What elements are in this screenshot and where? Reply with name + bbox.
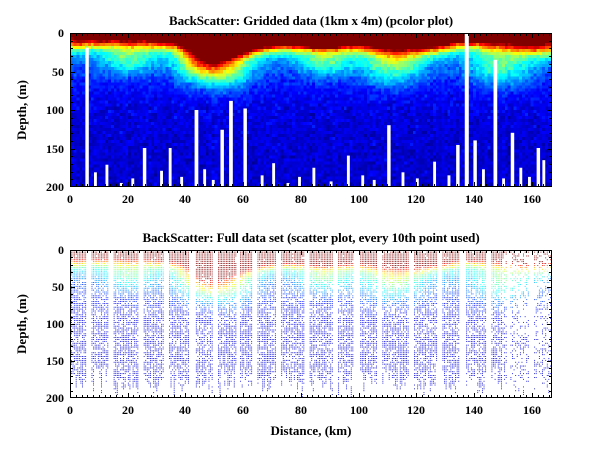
y-minor-tick [70, 79, 73, 80]
x-minor-tick [434, 184, 435, 187]
x-minor-tick [220, 184, 221, 187]
x-minor-tick [82, 33, 83, 36]
x-minor-tick [503, 250, 504, 253]
x-minor-tick [295, 184, 296, 187]
x-tick-label: 40 [179, 404, 191, 416]
y-minor-tick [70, 133, 73, 134]
x-minor-tick [353, 33, 354, 36]
x-minor-tick [260, 33, 261, 36]
x-minor-tick [445, 250, 446, 253]
x-minor-tick [376, 33, 377, 36]
x-minor-tick [382, 250, 383, 253]
x-minor-tick [480, 33, 481, 36]
x-minor-tick [364, 395, 365, 398]
x-minor-tick [105, 250, 106, 253]
y-minor-tick [549, 164, 552, 165]
y-minor-tick [549, 339, 552, 340]
x-minor-tick [514, 250, 515, 253]
x-minor-tick [151, 184, 152, 187]
y-minor-tick [70, 125, 73, 126]
x-minor-tick [87, 250, 88, 253]
x-major-tick [185, 33, 186, 38]
x-tick-label: 160 [523, 193, 541, 205]
x-minor-tick [439, 184, 440, 187]
x-tick-label: 20 [122, 193, 134, 205]
x-minor-tick [520, 184, 521, 187]
x-minor-tick [503, 395, 504, 398]
y-tick-label: 150 [32, 143, 64, 155]
x-minor-tick [445, 395, 446, 398]
y-minor-tick [549, 95, 552, 96]
x-minor-tick [336, 395, 337, 398]
x-major-tick [416, 33, 417, 38]
x-minor-tick [405, 33, 406, 36]
x-minor-tick [232, 250, 233, 253]
x-minor-tick [145, 33, 146, 36]
x-minor-tick [237, 33, 238, 36]
y-tick-label: 50 [32, 281, 64, 293]
x-major-tick [243, 250, 244, 255]
x-minor-tick [457, 250, 458, 253]
x-minor-tick [168, 395, 169, 398]
x-minor-tick [526, 33, 527, 36]
x-minor-tick [93, 250, 94, 253]
x-minor-tick [76, 184, 77, 187]
y-minor-tick [549, 383, 552, 384]
x-tick-label: 60 [237, 404, 249, 416]
x-minor-tick [203, 184, 204, 187]
y-major-tick [70, 186, 75, 187]
x-major-tick [301, 393, 302, 398]
x-minor-tick [370, 184, 371, 187]
x-major-tick [301, 250, 302, 255]
x-minor-tick [347, 184, 348, 187]
x-minor-tick [82, 184, 83, 187]
x-minor-tick [312, 184, 313, 187]
y-minor-tick [549, 156, 552, 157]
x-major-tick [532, 393, 533, 398]
y-minor-tick [70, 87, 73, 88]
x-minor-tick [543, 184, 544, 187]
x-minor-tick [399, 184, 400, 187]
y-tick-label: 200 [32, 392, 64, 404]
x-minor-tick [324, 184, 325, 187]
x-minor-tick [93, 395, 94, 398]
x-minor-tick [82, 395, 83, 398]
x-major-tick [185, 250, 186, 255]
x-minor-tick [255, 184, 256, 187]
x-minor-tick [457, 33, 458, 36]
x-minor-tick [370, 395, 371, 398]
y-minor-tick [70, 339, 73, 340]
x-minor-tick [491, 184, 492, 187]
x-major-tick [474, 393, 475, 398]
x-minor-tick [324, 395, 325, 398]
x-minor-tick [145, 250, 146, 253]
y-minor-tick [70, 257, 73, 258]
x-minor-tick [514, 395, 515, 398]
x-minor-tick [214, 184, 215, 187]
x-minor-tick [209, 33, 210, 36]
x-minor-tick [347, 250, 348, 253]
x-minor-tick [318, 395, 319, 398]
x-minor-tick [249, 33, 250, 36]
x-tick-label: 40 [179, 193, 191, 205]
x-minor-tick [341, 33, 342, 36]
x-minor-tick [226, 395, 227, 398]
x-minor-tick [116, 250, 117, 253]
y-minor-tick [70, 141, 73, 142]
x-minor-tick [289, 184, 290, 187]
x-minor-tick [197, 33, 198, 36]
y-minor-tick [549, 280, 552, 281]
x-minor-tick [497, 250, 498, 253]
x-minor-tick [468, 33, 469, 36]
x-minor-tick [428, 33, 429, 36]
x-minor-tick [382, 184, 383, 187]
y-major-tick [70, 287, 75, 288]
x-minor-tick [260, 250, 261, 253]
x-tick-label: 100 [350, 404, 368, 416]
x-minor-tick [330, 33, 331, 36]
x-minor-tick [151, 33, 152, 36]
x-minor-tick [76, 395, 77, 398]
x-minor-tick [266, 184, 267, 187]
x-major-tick [128, 33, 129, 38]
y-minor-tick [549, 172, 552, 173]
y-minor-tick [70, 172, 73, 173]
x-minor-tick [226, 33, 227, 36]
x-minor-tick [220, 250, 221, 253]
x-minor-tick [370, 250, 371, 253]
x-major-tick [532, 182, 533, 187]
x-minor-tick [162, 184, 163, 187]
x-minor-tick [197, 250, 198, 253]
x-minor-tick [457, 184, 458, 187]
y-minor-tick [70, 164, 73, 165]
x-minor-tick [509, 395, 510, 398]
x-minor-tick [139, 184, 140, 187]
x-minor-tick [162, 395, 163, 398]
y-major-tick [547, 287, 552, 288]
x-minor-tick [422, 184, 423, 187]
x-major-tick [185, 393, 186, 398]
x-minor-tick [226, 250, 227, 253]
x-major-tick [301, 33, 302, 38]
x-minor-tick [486, 33, 487, 36]
y-tick-label: 200 [32, 181, 64, 193]
x-minor-tick [180, 250, 181, 253]
x-minor-tick [341, 250, 342, 253]
x-minor-tick [422, 250, 423, 253]
x-minor-tick [255, 250, 256, 253]
y-minor-tick [70, 302, 73, 303]
x-minor-tick [214, 33, 215, 36]
y-major-tick [70, 397, 75, 398]
x-minor-tick [116, 395, 117, 398]
x-minor-tick [330, 184, 331, 187]
x-minor-tick [543, 33, 544, 36]
x-tick-label: 120 [407, 404, 425, 416]
x-minor-tick [491, 395, 492, 398]
x-minor-tick [191, 395, 192, 398]
x-minor-tick [284, 250, 285, 253]
x-major-tick [416, 250, 417, 255]
x-minor-tick [122, 33, 123, 36]
x-minor-tick [463, 184, 464, 187]
y-minor-tick [70, 156, 73, 157]
x-minor-tick [116, 184, 117, 187]
x-minor-tick [393, 184, 394, 187]
x-minor-tick [520, 33, 521, 36]
x-minor-tick [312, 250, 313, 253]
y-minor-tick [549, 179, 552, 180]
y-axis-label-gridded: Depth, (m) [15, 33, 29, 187]
x-minor-tick [220, 33, 221, 36]
x-minor-tick [399, 395, 400, 398]
x-minor-tick [122, 395, 123, 398]
x-minor-tick [266, 395, 267, 398]
x-minor-tick [133, 184, 134, 187]
y-minor-tick [549, 376, 552, 377]
x-major-tick [243, 33, 244, 38]
x-minor-tick [497, 33, 498, 36]
y-minor-tick [549, 102, 552, 103]
x-minor-tick [162, 250, 163, 253]
x-minor-tick [364, 184, 365, 187]
y-major-tick [547, 110, 552, 111]
x-tick-label: 100 [350, 193, 368, 205]
x-minor-tick [468, 395, 469, 398]
x-minor-tick [422, 395, 423, 398]
x-minor-tick [509, 33, 510, 36]
x-minor-tick [82, 250, 83, 253]
y-minor-tick [549, 354, 552, 355]
y-minor-tick [70, 294, 73, 295]
x-minor-tick [330, 395, 331, 398]
x-minor-tick [122, 250, 123, 253]
y-minor-tick [70, 383, 73, 384]
x-minor-tick [168, 250, 169, 253]
y-major-tick [70, 324, 75, 325]
scatter-points [71, 251, 551, 397]
y-major-tick [547, 186, 552, 187]
x-minor-tick [451, 184, 452, 187]
y-minor-tick [70, 179, 73, 180]
x-minor-tick [434, 395, 435, 398]
x-minor-tick [237, 250, 238, 253]
y-tick-label: 50 [32, 66, 64, 78]
x-major-tick [185, 182, 186, 187]
x-minor-tick [174, 184, 175, 187]
y-minor-tick [70, 331, 73, 332]
y-major-tick [547, 33, 552, 34]
x-minor-tick [116, 33, 117, 36]
x-minor-tick [486, 184, 487, 187]
x-minor-tick [99, 395, 100, 398]
x-minor-tick [509, 250, 510, 253]
y-minor-tick [549, 309, 552, 310]
y-minor-tick [549, 346, 552, 347]
x-minor-tick [272, 184, 273, 187]
x-minor-tick [364, 250, 365, 253]
y-minor-tick [549, 368, 552, 369]
y-major-tick [70, 33, 75, 34]
x-minor-tick [330, 250, 331, 253]
x-major-tick [359, 33, 360, 38]
x-minor-tick [341, 184, 342, 187]
x-minor-tick [278, 184, 279, 187]
y-minor-tick [549, 302, 552, 303]
x-minor-tick [336, 250, 337, 253]
x-minor-tick [434, 33, 435, 36]
y-minor-tick [549, 125, 552, 126]
x-minor-tick [382, 395, 383, 398]
x-minor-tick [145, 184, 146, 187]
y-tick-label: 0 [32, 27, 64, 39]
y-major-tick [547, 324, 552, 325]
x-minor-tick [491, 250, 492, 253]
y-minor-tick [70, 64, 73, 65]
x-minor-tick [405, 184, 406, 187]
x-minor-tick [133, 250, 134, 253]
x-minor-tick [451, 250, 452, 253]
x-major-tick [243, 393, 244, 398]
x-minor-tick [526, 250, 527, 253]
x-minor-tick [272, 250, 273, 253]
x-minor-tick [353, 395, 354, 398]
x-minor-tick [278, 395, 279, 398]
x-minor-tick [162, 33, 163, 36]
x-minor-tick [393, 395, 394, 398]
x-minor-tick [255, 395, 256, 398]
x-minor-tick [209, 184, 210, 187]
x-minor-tick [468, 250, 469, 253]
x-minor-tick [543, 395, 544, 398]
x-minor-tick [463, 395, 464, 398]
x-minor-tick [439, 250, 440, 253]
y-minor-tick [70, 346, 73, 347]
y-minor-tick [70, 48, 73, 49]
y-minor-tick [549, 141, 552, 142]
x-minor-tick [428, 250, 429, 253]
x-minor-tick [307, 184, 308, 187]
x-minor-tick [87, 33, 88, 36]
x-major-tick [128, 250, 129, 255]
x-minor-tick [157, 395, 158, 398]
x-minor-tick [260, 395, 261, 398]
x-minor-tick [411, 33, 412, 36]
x-minor-tick [445, 33, 446, 36]
y-major-tick [70, 72, 75, 73]
x-minor-tick [93, 184, 94, 187]
x-minor-tick [139, 250, 140, 253]
x-minor-tick [318, 250, 319, 253]
x-major-tick [243, 182, 244, 187]
x-minor-tick [122, 184, 123, 187]
x-minor-tick [312, 33, 313, 36]
x-minor-tick [312, 395, 313, 398]
y-minor-tick [70, 265, 73, 266]
x-minor-tick [174, 33, 175, 36]
x-minor-tick [232, 33, 233, 36]
x-minor-tick [295, 33, 296, 36]
x-minor-tick [87, 395, 88, 398]
pcolor-image [71, 34, 551, 186]
x-tick-label: 20 [122, 404, 134, 416]
x-minor-tick [105, 33, 106, 36]
x-minor-tick [105, 395, 106, 398]
x-minor-tick [497, 395, 498, 398]
x-minor-tick [289, 250, 290, 253]
x-minor-tick [428, 395, 429, 398]
x-minor-tick [266, 250, 267, 253]
x-major-tick [301, 182, 302, 187]
x-minor-tick [110, 184, 111, 187]
y-minor-tick [70, 102, 73, 103]
x-minor-tick [463, 33, 464, 36]
x-minor-tick [307, 395, 308, 398]
x-minor-tick [336, 33, 337, 36]
x-minor-tick [347, 33, 348, 36]
y-major-tick [70, 149, 75, 150]
y-minor-tick [549, 64, 552, 65]
x-minor-tick [376, 184, 377, 187]
y-minor-tick [549, 331, 552, 332]
x-minor-tick [324, 250, 325, 253]
x-minor-tick [538, 395, 539, 398]
x-minor-tick [486, 395, 487, 398]
x-minor-tick [180, 184, 181, 187]
y-minor-tick [70, 95, 73, 96]
y-minor-tick [70, 56, 73, 57]
x-minor-tick [509, 184, 510, 187]
y-minor-tick [70, 272, 73, 273]
x-minor-tick [139, 33, 140, 36]
x-major-tick [532, 250, 533, 255]
y-major-tick [547, 72, 552, 73]
x-minor-tick [105, 184, 106, 187]
x-minor-tick [307, 250, 308, 253]
x-minor-tick [347, 395, 348, 398]
x-minor-tick [237, 395, 238, 398]
x-minor-tick [434, 250, 435, 253]
y-minor-tick [549, 265, 552, 266]
x-minor-tick [99, 184, 100, 187]
x-minor-tick [491, 33, 492, 36]
x-minor-tick [249, 184, 250, 187]
x-minor-tick [422, 33, 423, 36]
x-minor-tick [411, 395, 412, 398]
x-minor-tick [249, 395, 250, 398]
x-minor-tick [387, 250, 388, 253]
x-minor-tick [445, 184, 446, 187]
x-minor-tick [451, 395, 452, 398]
x-minor-tick [278, 250, 279, 253]
y-minor-tick [549, 391, 552, 392]
plot-title-scatter: BackScatter: Full data set (scatter plot… [70, 231, 552, 245]
x-minor-tick [353, 250, 354, 253]
x-minor-tick [393, 33, 394, 36]
y-major-tick [547, 250, 552, 251]
x-minor-tick [295, 250, 296, 253]
x-minor-tick [526, 395, 527, 398]
x-minor-tick [463, 250, 464, 253]
x-minor-tick [203, 250, 204, 253]
x-major-tick [359, 182, 360, 187]
y-tick-label: 0 [32, 244, 64, 256]
y-minor-tick [70, 41, 73, 42]
